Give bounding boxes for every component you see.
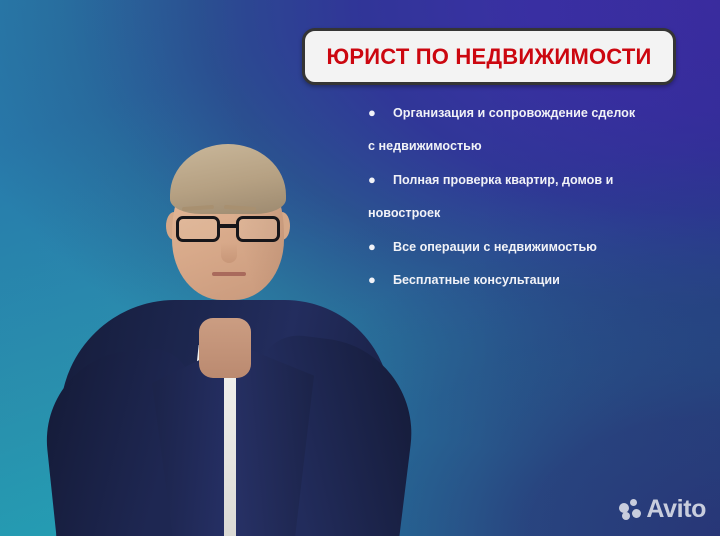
list-item-label: Все операции с недвижимостью	[393, 240, 678, 254]
list-item-label-continued: с недвижимостью	[368, 139, 678, 153]
list-item: ● Все операции с недвижимостью	[368, 240, 678, 254]
list-item-label-continued: новостроек	[368, 206, 678, 220]
avito-logo-dot-2	[630, 499, 637, 506]
bullet-icon: ●	[368, 273, 393, 286]
avito-wordmark: Avito	[646, 497, 706, 522]
portrait-nose	[221, 243, 237, 263]
list-item: ● Организация и сопровождение сделок с н…	[368, 106, 678, 154]
glasses-icon	[176, 216, 280, 242]
services-list: ● Организация и сопровождение сделок с н…	[368, 106, 678, 307]
portrait-neck	[199, 318, 251, 378]
advertisement-banner: ЮРИСТ ПО НЕДВИЖИМОСТИ ● Организация и со…	[0, 0, 720, 536]
avito-logo-dot-1	[619, 503, 629, 513]
avito-watermark: Avito	[619, 497, 706, 522]
bullet-icon: ●	[368, 173, 393, 186]
avito-logo-dot-3	[622, 512, 630, 520]
list-item-label: Организация и сопровождение сделок	[393, 106, 678, 120]
list-item: ● Бесплатные консультации	[368, 273, 678, 287]
portrait-hair	[170, 144, 286, 214]
bullet-icon: ●	[368, 240, 393, 253]
glasses-lens-right	[236, 216, 280, 242]
headline-plaque: ЮРИСТ ПО НЕДВИЖИМОСТИ	[302, 28, 676, 85]
headline-text: ЮРИСТ ПО НЕДВИЖИМОСТИ	[327, 46, 652, 68]
avito-logo-dot-4	[632, 509, 641, 518]
bullet-icon: ●	[368, 106, 393, 119]
list-item: ● Полная проверка квартир, домов и новос…	[368, 173, 678, 221]
glasses-lens-left	[176, 216, 220, 242]
portrait-mouth	[212, 272, 246, 276]
glasses-bridge	[220, 224, 236, 228]
avito-logo-icon	[619, 499, 641, 521]
list-item-label: Бесплатные консультации	[393, 273, 678, 287]
list-item-label: Полная проверка квартир, домов и	[393, 173, 678, 187]
